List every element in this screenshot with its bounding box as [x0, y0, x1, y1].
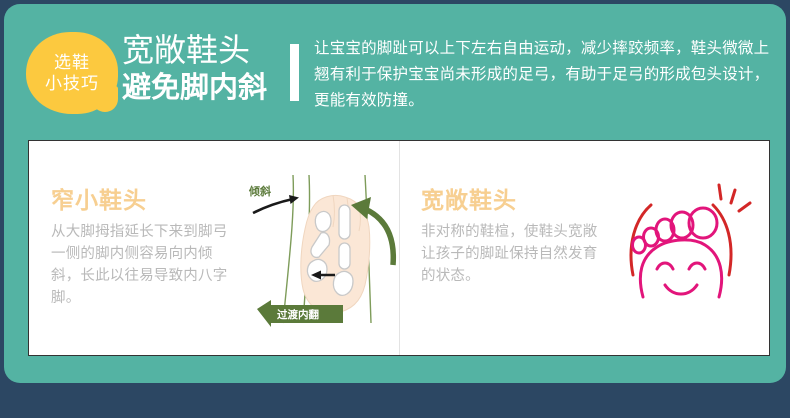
badge-text-group: 选鞋 小技巧: [26, 32, 118, 114]
badge-line-2: 小技巧: [45, 73, 99, 94]
header-section: 选鞋 小技巧 宽敞鞋头 避免脚内斜 让宝宝的脚趾可以上下左右自由运动，减少摔跤频…: [4, 30, 786, 128]
panel-left-body: 从大脚拇指延长下来到脚弓一侧的脚内侧容易向内倾斜，长此以往易导致内八字脚。: [51, 221, 241, 309]
panel-right-text-group: 宽敞鞋头 非对称的鞋楦，使鞋头宽敞让孩子的脚趾保持自然发育的状态。: [421, 185, 611, 287]
page-title: 宽敞鞋头 避免脚内斜: [122, 30, 287, 106]
figure-banner-label: 过渡内翻: [277, 308, 319, 321]
panel-right-body: 非对称的鞋楦，使鞋头宽敞让孩子的脚趾保持自然发育的状态。: [421, 221, 611, 287]
panel-left-title: 窄小鞋头: [51, 185, 241, 215]
sparkle-icon: [719, 185, 750, 211]
tips-badge: 选鞋 小技巧: [26, 32, 122, 118]
foot-inward-tilt-illustration: 倾斜 过渡内翻: [247, 169, 397, 334]
panel-right-title: 宽敞鞋头: [421, 185, 611, 215]
vertical-divider: [290, 44, 299, 101]
foot-outline-shape: [640, 240, 721, 297]
comparison-card: 窄小鞋头 从大脚拇指延长下来到脚弓一侧的脚内侧容易向内倾斜，长此以往易导致内八字…: [28, 140, 770, 356]
teal-background-panel: 选鞋 小技巧 宽敞鞋头 避免脚内斜 让宝宝的脚趾可以上下左右自由运动，减少摔跤频…: [4, 4, 786, 383]
smiley-face-icon: [657, 263, 705, 294]
panel-narrow-toe-box: 窄小鞋头 从大脚拇指延长下来到脚弓一侧的脚内侧容易向内倾斜，长此以往易导致内八字…: [29, 141, 399, 355]
page-title-line-2: 避免脚内斜: [122, 70, 287, 106]
figure-label-tilt: 倾斜: [248, 184, 271, 198]
panel-left-text-group: 窄小鞋头 从大脚拇指延长下来到脚弓一侧的脚内侧容易向内倾斜，长此以往易导致内八字…: [51, 185, 241, 309]
happy-foot-illustration: [613, 179, 753, 324]
panel-wide-toe-box: 宽敞鞋头 非对称的鞋楦，使鞋头宽敞让孩子的脚趾保持自然发育的状态。: [399, 141, 769, 355]
badge-line-1: 选鞋: [54, 52, 90, 73]
header-description: 让宝宝的脚趾可以上下左右自由运动，减少摔跤频率，鞋头微微上翘有利于保护宝宝尚未形…: [314, 36, 782, 114]
page-title-line-1: 宽敞鞋头: [122, 30, 287, 70]
